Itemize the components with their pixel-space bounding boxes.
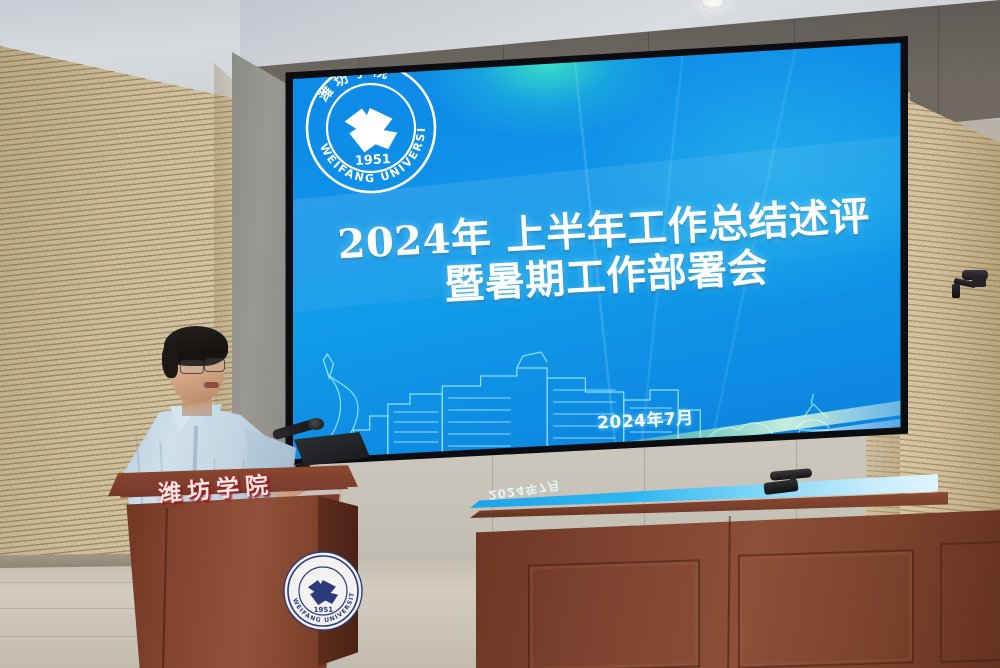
table-microphone-icon bbox=[760, 470, 814, 498]
slide-date: 2024年7月 bbox=[596, 403, 694, 433]
security-camera-icon bbox=[952, 268, 988, 302]
conference-hall-photo: 1951 潍坊学院 WEIFANG UNIVERSITY 2024年 上半年工作… bbox=[0, 0, 1000, 668]
conference-table: 2024年7月 bbox=[470, 466, 1000, 668]
svg-text:1951: 1951 bbox=[314, 606, 334, 614]
glasses-bridge bbox=[201, 363, 206, 365]
speaker-hair-side bbox=[162, 344, 178, 378]
podium-microphone-icon bbox=[308, 418, 324, 430]
led-screen[interactable]: 1951 潍坊学院 WEIFANG UNIVERSITY 2024年 上半年工作… bbox=[283, 36, 908, 466]
glasses-icon bbox=[204, 358, 225, 372]
svg-text:1951: 1951 bbox=[354, 152, 391, 169]
podium: 1951 WEIFANG UNIVERSITY 潍坊学院 bbox=[108, 462, 358, 668]
table-panel-inset bbox=[738, 549, 914, 668]
table-panel-inset bbox=[940, 541, 1000, 663]
speaker-mouth bbox=[204, 382, 219, 388]
podium-university-emblem-icon: 1951 WEIFANG UNIVERSITY bbox=[281, 549, 364, 632]
table-panel-inset bbox=[528, 559, 700, 668]
